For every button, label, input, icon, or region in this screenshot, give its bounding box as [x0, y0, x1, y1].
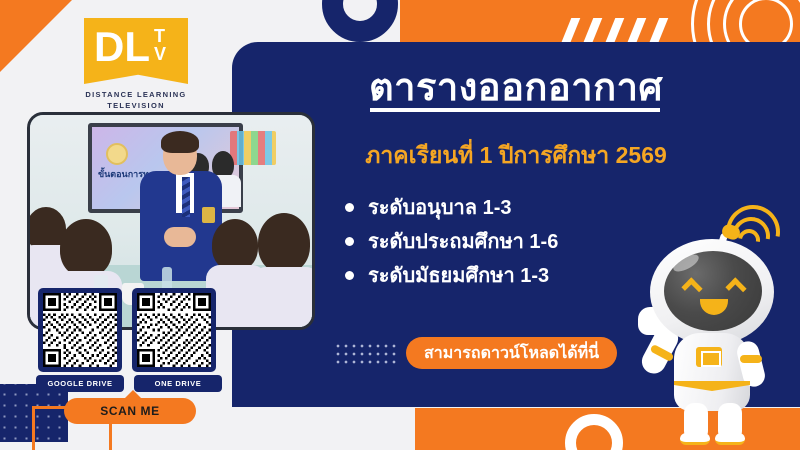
photo-teacher-tie — [182, 177, 190, 217]
dltv-astronaut-mascot — [630, 195, 800, 445]
photo-student-head — [212, 219, 258, 271]
photo-student-body — [252, 267, 315, 330]
logo-letter-v: V — [154, 45, 166, 63]
page-subtitle: ภาคเรียนที่ 1 ปีการศึกษา 2569 — [258, 138, 774, 174]
navy-ring-decoration — [322, 0, 398, 42]
mascot-chest-logo-icon — [696, 347, 722, 367]
poster-canvas: DL T V DISTANCE LEARNING TELEVISION ขั้น… — [0, 0, 800, 450]
bullet-dot-icon — [345, 203, 354, 212]
qr-code-group — [38, 288, 216, 372]
bullet-dot-icon — [345, 237, 354, 246]
qr-code-google-drive-image — [43, 293, 117, 367]
photo-student-head — [60, 219, 112, 277]
photo-teacher-hands — [164, 227, 196, 247]
logo-letter-t: T — [154, 27, 165, 45]
mascot-right-boot — [715, 433, 745, 445]
page-title-underline — [370, 108, 660, 112]
list-item: ระดับอนุบาล 1-3 — [345, 190, 558, 224]
dltv-logo: DL T V DISTANCE LEARNING TELEVISION — [72, 18, 200, 112]
qr-code-one-drive[interactable] — [132, 288, 216, 372]
logo-letter-dl: DL — [94, 26, 150, 68]
qr-code-google-drive[interactable] — [38, 288, 122, 372]
list-item: ระดับมัธยมศึกษา 1-3 — [345, 258, 558, 292]
qr-code-one-drive-image — [137, 293, 211, 367]
dot-square-cap-decoration — [0, 399, 68, 404]
qr-label-google-drive[interactable]: GOOGLE DRIVE — [36, 375, 124, 392]
list-item: ระดับประถมศึกษา 1-6 — [345, 224, 558, 258]
mascot-left-boot — [680, 433, 710, 445]
qr-label-one-drive[interactable]: ONE DRIVE — [134, 375, 222, 392]
list-item-label: ระดับมัธยมศึกษา 1-3 — [368, 259, 549, 291]
photo-student-head — [258, 213, 310, 273]
photo-teacher-emblem — [202, 207, 215, 223]
corner-triangle-decoration — [0, 0, 72, 72]
photo-screen-badge-icon — [106, 143, 128, 165]
cta-dot-pattern-decoration — [334, 342, 400, 366]
bullet-dot-icon — [345, 271, 354, 280]
mascot-right-cuff — [740, 355, 762, 363]
dltv-logo-mark-icon: DL T V — [84, 18, 188, 84]
scan-me-banner: SCAN ME — [64, 398, 196, 424]
education-level-list: ระดับอนุบาล 1-3 ระดับประถมศึกษา 1-6 ระดั… — [345, 190, 558, 292]
list-item-label: ระดับประถมศึกษา 1-6 — [368, 225, 558, 257]
download-cta-button[interactable]: สามารถดาวน์โหลดได้ที่นี่ — [406, 337, 617, 369]
logo-subtitle: DISTANCE LEARNING TELEVISION — [72, 90, 200, 112]
list-item-label: ระดับอนุบาล 1-3 — [368, 191, 512, 223]
photo-teacher-hair — [161, 131, 199, 153]
